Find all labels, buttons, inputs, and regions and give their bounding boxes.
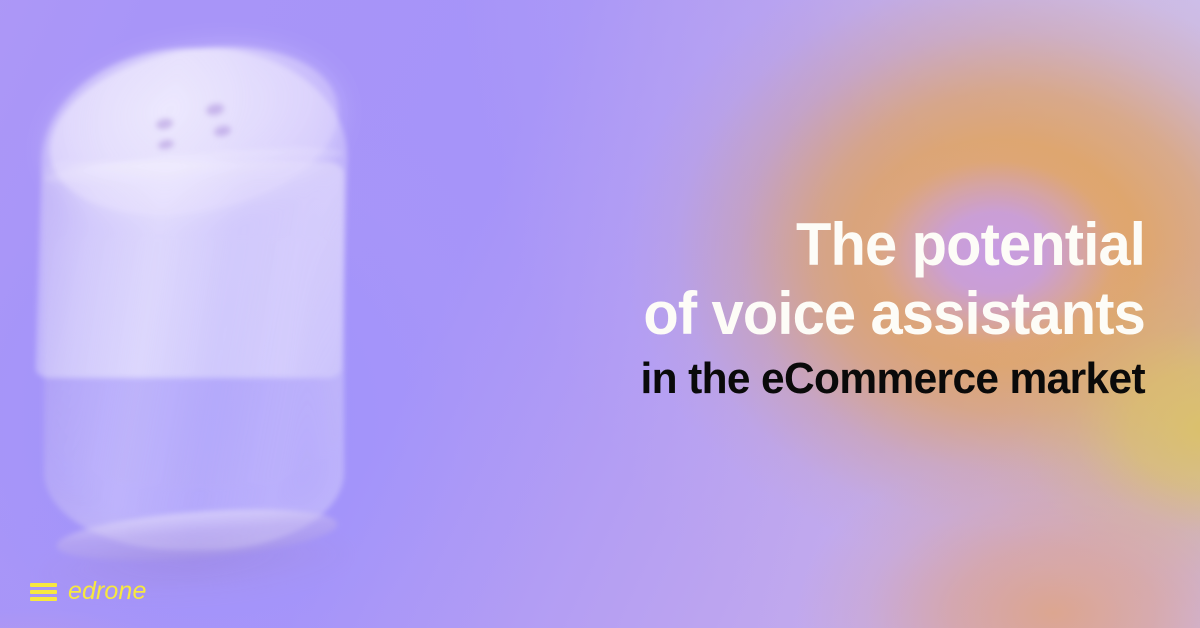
headline-line-3: in the eCommerce market [412,348,1145,410]
speaker-seam [44,141,345,191]
speaker-led-dot-2 [205,102,225,117]
speaker-fabric-grille [52,238,338,488]
logo-bar-3 [30,597,57,601]
speaker-led-dot-1 [155,117,174,130]
speaker-body [44,162,344,550]
headline-line-1: The potential [412,210,1145,279]
headline-block: The potential of voice assistants in the… [385,210,1145,410]
smart-speaker-image [18,42,370,562]
logo-wordmark: edrone [68,579,146,604]
speaker-shell [35,48,350,378]
speaker-top-face [35,24,353,239]
logo-bar-1 [30,583,57,587]
logo-bar-2 [30,590,57,594]
speaker-led-dot-4 [213,124,232,137]
headline-line-2: of voice assistants [412,279,1145,348]
three-bars-icon [30,583,57,601]
speaker-base [55,501,340,569]
speaker-led-dot-3 [157,138,175,150]
promo-banner: The potential of voice assistants in the… [0,0,1200,628]
edrone-logo[interactable]: edrone [30,579,146,604]
